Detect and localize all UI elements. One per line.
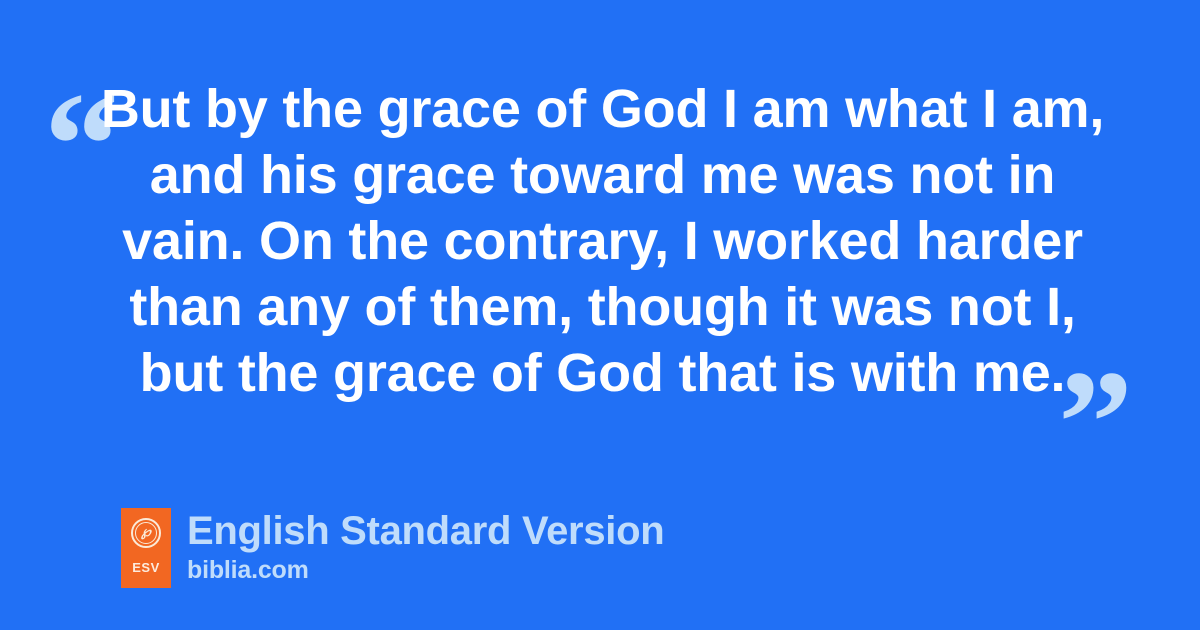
- verse-line: but the grace of God that is with me.: [60, 340, 1145, 406]
- source-site-name: biblia.com: [187, 556, 664, 584]
- bible-verse-card: “ But by the grace of God I am what I am…: [0, 0, 1200, 630]
- attribution-text: English Standard Version biblia.com: [187, 508, 664, 584]
- esv-seal-monogram: ℘: [141, 526, 151, 540]
- verse-line: But by the grace of God I am what I am,: [60, 76, 1145, 142]
- attribution: ℘ ESV English Standard Version biblia.co…: [121, 508, 664, 588]
- verse-text: But by the grace of God I am what I am, …: [60, 76, 1145, 406]
- esv-logo: ℘ ESV: [121, 508, 171, 588]
- verse-line: than any of them, though it was not I,: [60, 274, 1145, 340]
- closing-quote-icon: ”: [1058, 348, 1133, 498]
- bible-version-name: English Standard Version: [187, 508, 664, 554]
- verse-line: and his grace toward me was not in: [60, 142, 1145, 208]
- quote-block: “ But by the grace of God I am what I am…: [0, 48, 1200, 408]
- verse-line: vain. On the contrary, I worked harder: [60, 208, 1145, 274]
- esv-seal-icon: ℘: [131, 518, 161, 548]
- esv-logo-label: ESV: [132, 561, 160, 574]
